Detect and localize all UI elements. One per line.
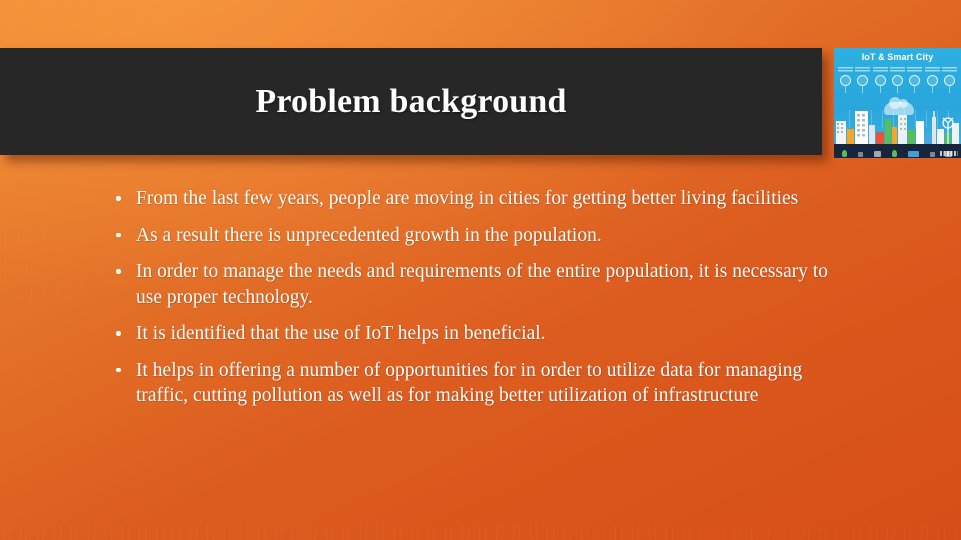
smart-industry-icon [907, 67, 922, 93]
bullet-dot-icon [116, 331, 121, 336]
icon-badge [857, 75, 868, 86]
icon-badge [892, 75, 903, 86]
smart-transport-icon [873, 67, 888, 93]
icon-caption [907, 67, 922, 73]
bullet-dot-icon [116, 233, 121, 238]
page-title: Problem background [225, 83, 596, 120]
icon-badge [875, 75, 886, 86]
tree-icon [842, 150, 847, 157]
bullet-dot-icon [116, 269, 121, 274]
infographic-title: IoT & Smart City [834, 52, 961, 62]
icon-stem [880, 86, 881, 93]
bus-icon [908, 151, 919, 157]
list-item-text: In order to manage the needs and require… [136, 261, 828, 308]
smart-energy-icon [855, 67, 870, 93]
tree-icon [892, 150, 897, 157]
icon-badge [927, 75, 938, 86]
icon-caption [925, 67, 940, 73]
list-item: As a result there is unprecedented growt… [112, 223, 834, 249]
background-texture-left [0, 230, 90, 300]
icon-caption [942, 67, 957, 73]
title-banner: Problem background [0, 48, 822, 155]
smart-building-icon [925, 67, 940, 93]
smart-network-icon [942, 67, 957, 93]
bullet-dot-icon [116, 196, 121, 201]
bullet-list: From the last few years, people are movi… [112, 186, 834, 409]
icon-stem [932, 86, 933, 93]
list-item-text: It helps in offering a number of opportu… [136, 360, 802, 407]
icon-stem [845, 86, 846, 93]
list-item: It helps in offering a number of opportu… [112, 358, 834, 409]
list-item: It is identified that the use of IoT hel… [112, 321, 834, 347]
list-item-text: As a result there is unprecedented growt… [136, 225, 602, 246]
list-item-text: It is identified that the use of IoT hel… [136, 323, 546, 344]
icon-stem [949, 86, 950, 93]
icon-badge [909, 75, 920, 86]
icon-caption [890, 67, 905, 73]
icon-caption [838, 67, 853, 73]
person-icon [858, 152, 863, 157]
bullet-dot-icon [116, 368, 121, 373]
smart-health-icon [890, 67, 905, 93]
icon-stem [862, 86, 863, 93]
car-icon [874, 151, 881, 157]
icon-stem [897, 86, 898, 93]
background-texture-bottom [0, 526, 961, 540]
smart-home-icon [838, 67, 853, 93]
list-item-text: From the last few years, people are movi… [136, 188, 798, 209]
icon-caption [855, 67, 870, 73]
city-skyline-illustration [834, 103, 961, 145]
infographic-icon-row [838, 67, 957, 93]
bicycle-icon [930, 152, 935, 157]
icon-stem [914, 86, 915, 93]
infographic-logo [940, 151, 958, 156]
icon-badge [840, 75, 851, 86]
presentation-slide: Problem background From the last few yea… [0, 0, 961, 540]
list-item: In order to manage the needs and require… [112, 259, 834, 310]
icon-badge [944, 75, 955, 86]
list-item: From the last few years, people are movi… [112, 186, 834, 212]
iot-smart-city-image: IoT & Smart City [834, 48, 961, 158]
icon-caption [873, 67, 888, 73]
